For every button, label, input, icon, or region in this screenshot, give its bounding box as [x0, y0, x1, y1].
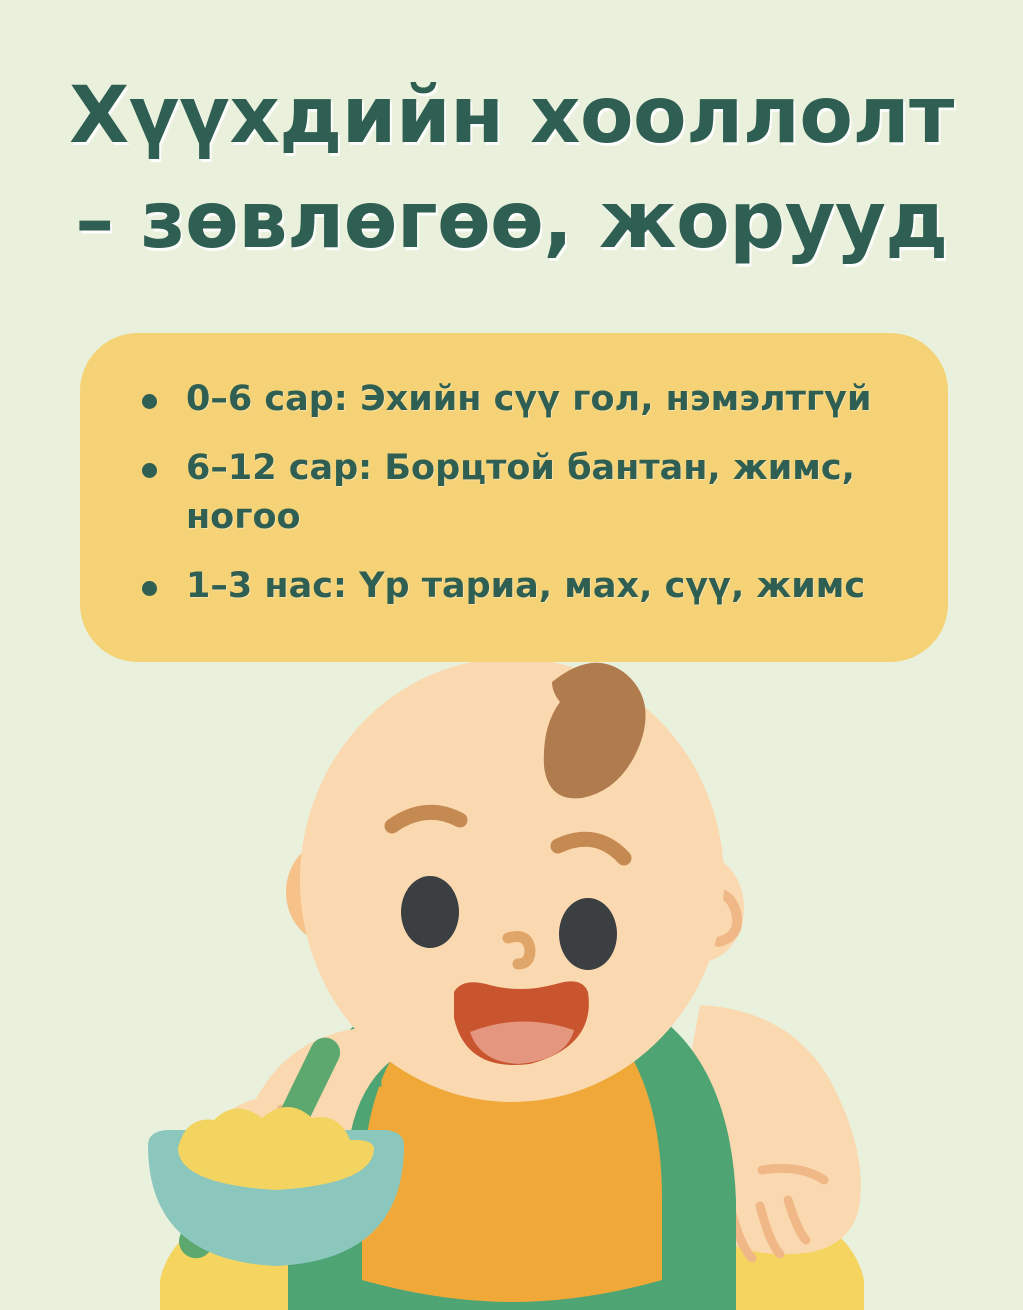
list-item: 1–3 нас: Үр тариа, мах, сүү, жимс	[134, 562, 894, 610]
tips-list: 0–6 сар: Эхийн сүү гол, нэмэлтгүй 6–12 с…	[134, 375, 894, 610]
list-item-label: 0–6 сар: Эхийн сүү гол, нэмэлтгүй	[186, 379, 872, 419]
bullet-icon	[142, 463, 157, 478]
bullet-icon	[142, 394, 157, 409]
baby-eating-illustration	[0, 640, 1023, 1310]
list-item: 6–12 сар: Борцтой бантан, жимс, ногоо	[134, 444, 894, 541]
list-item-label: 6–12 сар: Борцтой бантан, жимс, ногоо	[186, 448, 855, 536]
list-item-label: 1–3 нас: Үр тариа, мах, сүү, жимс	[186, 566, 865, 606]
bullet-icon	[142, 581, 157, 596]
eye-right-icon	[559, 898, 617, 970]
page-title: Хүүхдийн хооллолт – зөвлөгөө, жорууд	[0, 64, 1023, 275]
page-title-line-1: Хүүхдийн хооллолт	[0, 64, 1023, 169]
page-title-line-2: – зөвлөгөө, жорууд	[0, 169, 1023, 274]
list-item: 0–6 сар: Эхийн сүү гол, нэмэлтгүй	[134, 375, 894, 423]
poster-root: Хүүхдийн хооллолт – зөвлөгөө, жорууд 0–6…	[0, 0, 1023, 1310]
tips-card: 0–6 сар: Эхийн сүү гол, нэмэлтгүй 6–12 с…	[80, 333, 948, 662]
eye-left-icon	[401, 876, 459, 948]
